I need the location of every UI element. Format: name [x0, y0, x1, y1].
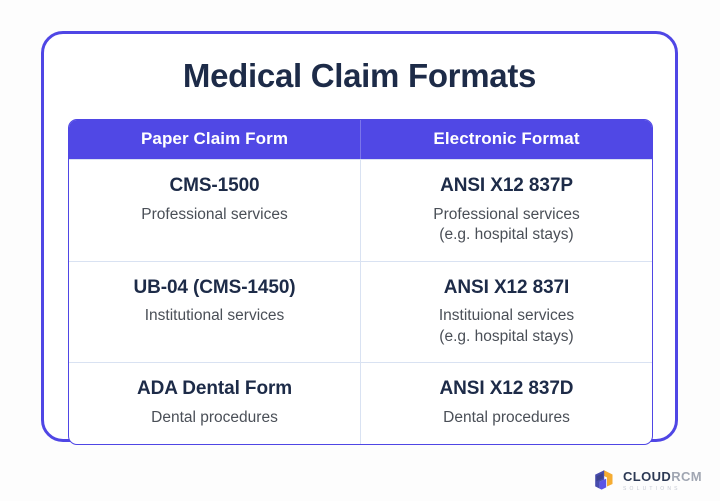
format-name: UB-04 (CMS-1450): [79, 276, 350, 300]
logo-text: CLOUDRCM SOLUTIONS: [623, 469, 702, 492]
infographic-card: Medical Claim Formats Paper Claim Form E…: [41, 31, 678, 442]
description-line: Instituional services: [371, 306, 642, 326]
table-cell-paper: ADA Dental Form Dental procedures: [69, 363, 361, 443]
table-cell-paper: UB-04 (CMS-1450) Institutional services: [69, 262, 361, 363]
format-description: Professional services: [79, 205, 350, 225]
table-row: CMS-1500 Professional services ANSI X12 …: [69, 159, 652, 261]
table-header-row: Paper Claim Form Electronic Format: [69, 120, 652, 159]
description-line: Professional services: [79, 205, 350, 225]
description-line-secondary: (e.g. hospital stays): [371, 327, 642, 347]
format-description: Institutional services: [79, 306, 350, 326]
format-name: CMS-1500: [79, 174, 350, 198]
description-line: Professional services: [371, 205, 642, 225]
table-cell-electronic: ANSI X12 837I Instituional services (e.g…: [361, 262, 652, 363]
table-cell-electronic: ANSI X12 837P Professional services (e.g…: [361, 160, 652, 261]
format-name: ADA Dental Form: [79, 377, 350, 401]
description-line: Dental procedures: [371, 408, 642, 428]
cloud-logo-icon: [592, 467, 618, 493]
logo-tagline: SOLUTIONS: [623, 487, 702, 492]
format-description: Dental procedures: [79, 408, 350, 428]
format-name: ANSI X12 837D: [371, 377, 642, 401]
logo-word-primary: CLOUD: [623, 469, 671, 484]
formats-table: Paper Claim Form Electronic Format CMS-1…: [68, 119, 653, 445]
brand-logo: CLOUDRCM SOLUTIONS: [592, 467, 702, 493]
format-name: ANSI X12 837I: [371, 276, 642, 300]
column-header-electronic-format: Electronic Format: [361, 120, 652, 159]
description-line-secondary: (e.g. hospital stays): [371, 225, 642, 245]
description-line: Dental procedures: [79, 408, 350, 428]
table-cell-paper: CMS-1500 Professional services: [69, 160, 361, 261]
table-row: UB-04 (CMS-1450) Institutional services …: [69, 261, 652, 363]
logo-word-secondary: RCM: [671, 469, 702, 484]
logo-wordmark: CLOUDRCM: [623, 469, 702, 484]
format-description: Dental procedures: [371, 408, 642, 428]
table-row: ADA Dental Form Dental procedures ANSI X…: [69, 362, 652, 443]
table-cell-electronic: ANSI X12 837D Dental procedures: [361, 363, 652, 443]
page-title: Medical Claim Formats: [44, 58, 675, 94]
format-description: Instituional services (e.g. hospital sta…: [371, 306, 642, 347]
description-line: Institutional services: [79, 306, 350, 326]
column-header-paper-claim-form: Paper Claim Form: [69, 120, 361, 159]
format-name: ANSI X12 837P: [371, 174, 642, 198]
format-description: Professional services (e.g. hospital sta…: [371, 205, 642, 246]
